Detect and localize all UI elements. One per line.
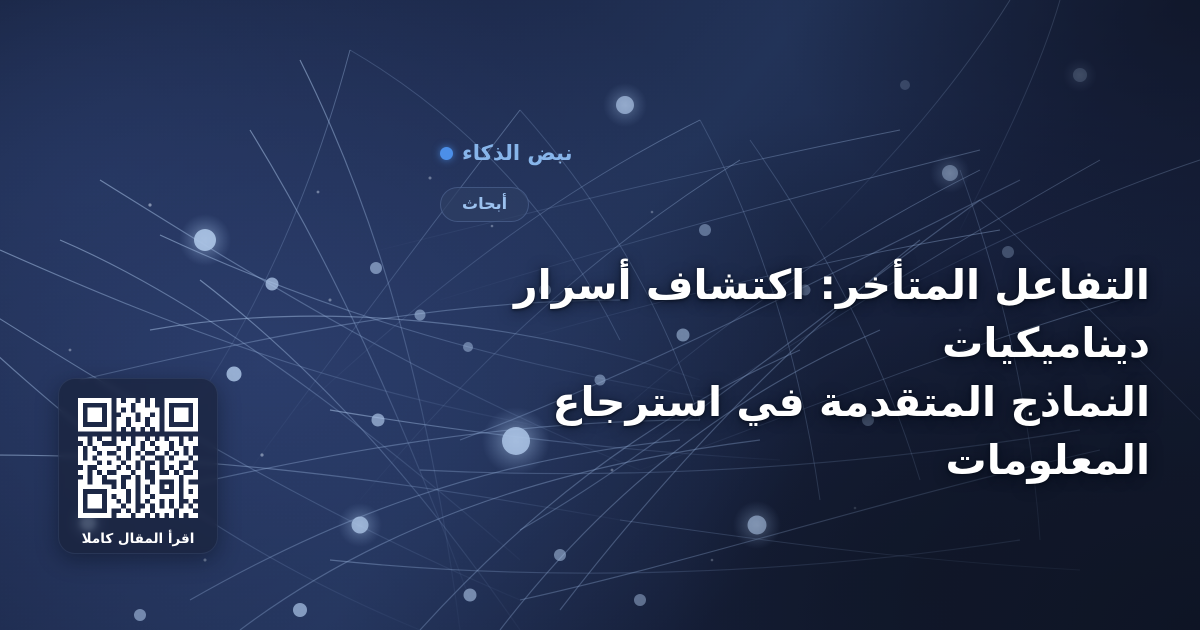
category-badge[interactable]: أبحاث [440,187,529,222]
qr-card-caption: اقرأ المقال كاملا [82,531,195,547]
content-column: نبض الذكاء أبحاث التفاعل المتأخر: اكتشاف… [440,0,1200,630]
brand: نبض الذكاء [440,141,572,165]
qr-code-card[interactable]: اقرأ المقال كاملا [58,378,218,554]
qr-code-icon [78,398,198,518]
brand-dot-icon [440,147,453,160]
social-share-card: اقرأ المقال كاملا نبض الذكاء أبحاث التفا… [0,0,1200,630]
page-title-line-1: التفاعل المتأخر: اكتشاف أسرار ديناميكيات [440,256,1150,372]
page-title: التفاعل المتأخر: اكتشاف أسرار ديناميكيات… [440,256,1150,489]
page-title-line-2: النماذج المتقدمة في استرجاع المعلومات [440,373,1150,489]
brand-name: نبض الذكاء [462,141,572,165]
